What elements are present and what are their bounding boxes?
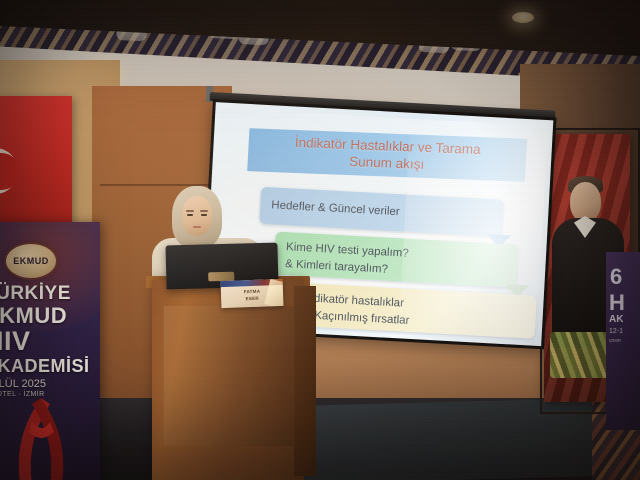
slide-flow-box-indikator: İndikatör hastalıklar & Kaçınılmış fırsa…: [292, 283, 537, 339]
banner-left-line-3: HIV: [0, 328, 100, 355]
podium: [152, 280, 304, 480]
speaker-eyebrow-right: [200, 210, 208, 212]
podium-front-panel: [164, 306, 294, 446]
ceiling-spotlight-icon: [512, 12, 534, 23]
slide-flow-box-hedefler: Hedefler & Güncel veriler: [259, 187, 504, 237]
ekmud-roll-up-banner: EKMUD TÜRKİYE EKMUD HIV AKADEMİSİ EYLÜL …: [0, 222, 100, 480]
portrait-head: [570, 182, 601, 222]
right-banner-line-5: IZMIR: [609, 338, 621, 343]
crescent-icon: [0, 148, 18, 194]
right-banner-line-4: 12-1: [609, 328, 623, 335]
slide-title-band: İndikatör Hastalıklar ve Tarama Sunum ak…: [247, 128, 527, 182]
slide-title-line-2: Sunum akışı: [349, 154, 425, 174]
speaker-eyebrow-left: [186, 210, 194, 212]
right-banner-line-3: AK: [609, 314, 623, 325]
speaker-face: [182, 196, 212, 236]
speaker-mouth: [193, 226, 201, 228]
flow-box-1-line-1: Hedefler & Güncel veriler: [271, 197, 400, 221]
podium-side-panel: [294, 286, 316, 476]
right-banner-line-1: 6: [610, 264, 622, 290]
speaker-eye-left: [187, 214, 193, 216]
ekmud-logo: EKMUD: [6, 244, 56, 278]
speaker-eye-right: [201, 214, 207, 216]
right-roll-up-banner: 6 H AK 12-1 IZMIR: [606, 252, 640, 430]
banner-left-text-block: TÜRKİYE EKMUD HIV AKADEMİSİ EYLÜL 2025 S…: [0, 284, 100, 398]
turkish-flag: [0, 96, 72, 226]
right-banner-line-2: H: [609, 290, 625, 316]
banner-left-line-4: AKADEMİSİ: [0, 357, 100, 375]
speaker-nameplate: FATMA ESER: [221, 279, 284, 308]
ekmud-logo-text: EKMUD: [13, 256, 49, 266]
banner-left-line-2: EKMUD: [0, 305, 100, 327]
slide-flow-box-hiv-testi: Kime HIV testi yapalım? & Kimleri taraya…: [274, 232, 519, 288]
aids-ribbon-icon: [6, 392, 76, 480]
banner-left-line-5: EYLÜL 2025: [0, 379, 100, 390]
conference-photo-scene: 6 H AK 12-1 IZMIR İndikatör Hastalıklar …: [0, 0, 640, 480]
banner-left-line-1: TÜRKİYE: [0, 284, 100, 303]
